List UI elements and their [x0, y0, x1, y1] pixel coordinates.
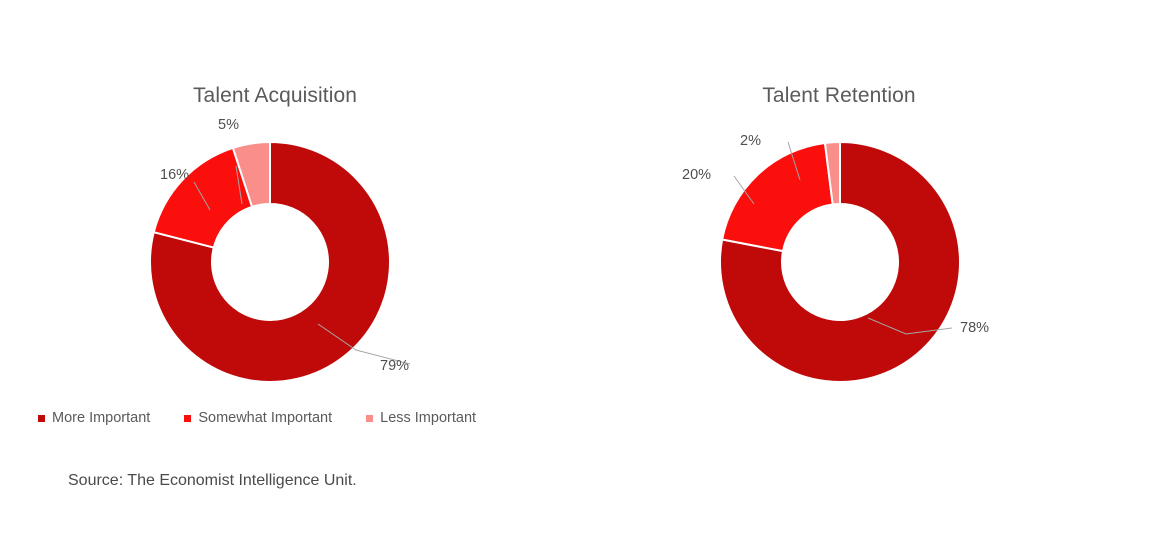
donut-slice-group-retention	[720, 142, 960, 382]
chart-title-talent-acquisition: Talent Acquisition	[0, 84, 555, 108]
slice-label-less-important: 5%	[218, 117, 239, 133]
legend-swatch-more-important-icon	[38, 415, 45, 422]
donut-slice[interactable]	[722, 143, 833, 251]
chart-panel-talent-retention: Talent Retention 78% 20% 2% More Importa…	[570, 0, 1174, 450]
donut-chart-talent-acquisition: 79% 16% 5%	[0, 132, 560, 402]
legend-item-somewhat-important[interactable]: Somewhat Important	[184, 410, 332, 426]
legend-item-more-important[interactable]: More Important	[38, 410, 150, 426]
legend-label-less-important: Less Important	[380, 410, 476, 426]
legend-label-somewhat-important: Somewhat Important	[198, 410, 332, 426]
legend-label-more-important: More Important	[52, 410, 150, 426]
legend-swatch-less-important-icon	[366, 415, 373, 422]
slice-label-more-important: 79%	[380, 358, 409, 374]
slice-label-less-important: 2%	[740, 133, 761, 149]
legend-item-less-important[interactable]: Less Important	[366, 410, 476, 426]
chart-panel-talent-acquisition: Talent Acquisition 79% 16% 5% More Impor…	[0, 0, 560, 450]
slice-label-somewhat-important: 16%	[160, 167, 189, 183]
donut-chart-talent-retention: 78% 20% 2%	[570, 132, 1174, 402]
legend-talent-acquisition: More Important Somewhat Important Less I…	[38, 410, 476, 426]
source-note: Source: The Economist Intelligence Unit.	[68, 472, 357, 490]
legend-swatch-somewhat-important-icon	[184, 415, 191, 422]
donut-svg-acquisition: 79% 16% 5%	[122, 132, 542, 402]
chart-title-talent-retention: Talent Retention	[537, 84, 1141, 108]
slice-label-more-important: 78%	[960, 320, 989, 336]
donut-svg-retention: 78% 20% 2%	[690, 132, 1110, 402]
slice-label-somewhat-important: 20%	[682, 167, 711, 183]
